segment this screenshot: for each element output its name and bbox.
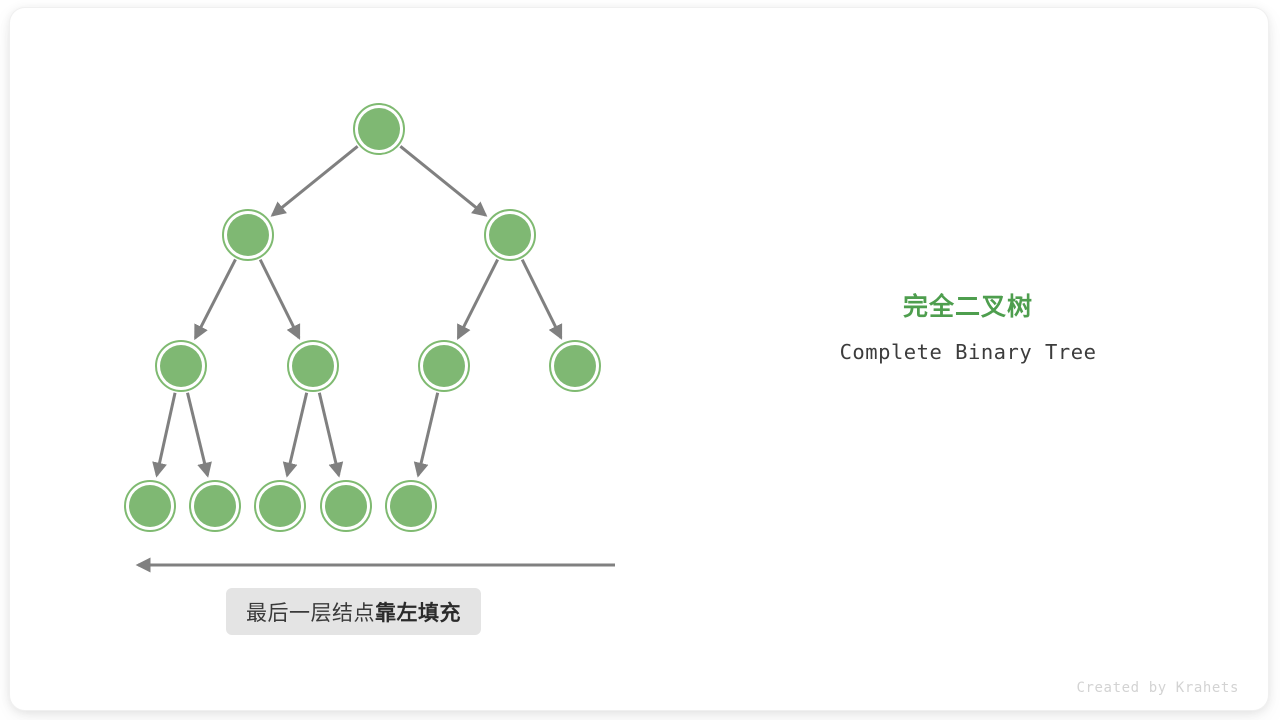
tree-edge [522,260,561,338]
tree-node [255,481,305,531]
tree-node [386,481,436,531]
tree-node [485,210,535,260]
node-fill [160,345,202,387]
tree-edge [418,393,437,476]
tree-edge [272,146,357,215]
tree-nodes [125,104,600,531]
node-fill [358,108,400,150]
tree-node [321,481,371,531]
node-fill [292,345,334,387]
node-fill [489,214,531,256]
node-fill [129,485,171,527]
tree-edge [260,260,299,338]
caption-badge: 最后一层结点靠左填充 [226,588,481,635]
node-fill [325,485,367,527]
tree-node [190,481,240,531]
tree-edge [400,146,485,215]
tree-edge [287,393,306,476]
tree-node [550,341,600,391]
tree-node [125,481,175,531]
caption-emphasis: 靠左填充 [375,602,461,625]
page-title-cn: 完全二叉树 [718,292,1218,322]
tree-edge [187,393,207,476]
caption-text: 最后一层结点靠左填充 [246,597,461,627]
caption-prefix: 最后一层结点 [246,602,375,625]
node-fill [423,345,465,387]
tree-node [156,341,206,391]
tree-node [288,341,338,391]
tree-node [419,341,469,391]
node-fill [390,485,432,527]
tree-edge [195,259,235,337]
watermark-credit: Created by Krahets [1076,680,1239,696]
tree-edge [157,393,175,475]
tree-edges [157,146,561,475]
page-title-en: Complete Binary Tree [718,339,1218,365]
node-fill [194,485,236,527]
node-fill [554,345,596,387]
tree-node [354,104,404,154]
title-block: 完全二叉树 Complete Binary Tree [718,292,1218,365]
tree-edge [319,393,338,476]
node-fill [259,485,301,527]
tree-node [223,210,273,260]
node-fill [227,214,269,256]
tree-edge [458,260,497,338]
screenshot-root: 完全二叉树 Complete Binary Tree 最后一层结点靠左填充 Cr… [0,0,1280,720]
